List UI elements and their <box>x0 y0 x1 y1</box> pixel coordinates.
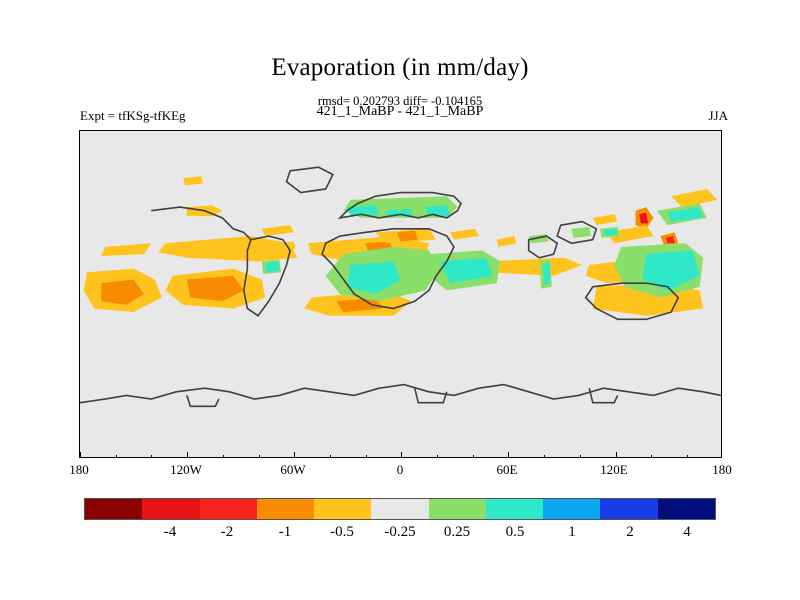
colorbar-band-9 <box>600 499 657 519</box>
season-label: JJA <box>708 108 728 124</box>
x-tick-80e <box>544 455 545 458</box>
colorbar-band-0 <box>85 499 142 519</box>
colorbar-band-10 <box>658 499 715 519</box>
x-axis-label-180w: 180 <box>69 462 89 478</box>
x-tick-60w <box>294 452 295 458</box>
y-tick-80s <box>79 441 80 442</box>
x-tick-60e <box>508 452 509 458</box>
x-tick-20w <box>366 455 367 458</box>
colorbar-band-1 <box>142 499 199 519</box>
map-data-layer <box>80 131 721 457</box>
x-tick-40w <box>330 455 331 458</box>
colorbar-label-9: 4 <box>683 524 691 541</box>
x-axis-label-120w: 120W <box>170 462 202 478</box>
map-plot-area <box>79 130 722 458</box>
colorbar-band-2 <box>200 499 257 519</box>
y-tick-80n <box>79 149 80 150</box>
x-tick-140e <box>651 455 652 458</box>
x-axis-label-180e: 180 <box>712 462 732 478</box>
x-tick-40e <box>473 455 474 458</box>
x-tick-20e <box>437 455 438 458</box>
y-tick-60s <box>79 404 80 405</box>
colorbar-band-4 <box>314 499 371 519</box>
chart-title: Evaporation (in mm/day) <box>0 54 800 82</box>
x-tick-80w <box>259 455 260 458</box>
colorbar-band-8 <box>543 499 600 519</box>
colorbar-band-7 <box>486 499 543 519</box>
colorbar-label-5: 0.25 <box>444 524 470 541</box>
experiment-label: Expt = tfKSg-tfKEg <box>80 108 186 124</box>
colorbar-label-4: -0.25 <box>384 524 415 541</box>
x-tick-140w <box>151 455 152 458</box>
colorbar-label-2: -1 <box>279 524 292 541</box>
colorbar-label-3: -0.5 <box>330 524 354 541</box>
x-tick-180w <box>80 452 81 458</box>
shaded-anomaly-fields <box>84 176 718 315</box>
y-tick-40s <box>79 368 80 369</box>
x-axis-label-0: 0 <box>397 462 404 478</box>
x-axis-label-120e: 120E <box>600 462 627 478</box>
y-tick-0 <box>79 295 80 296</box>
colorbar-band-3 <box>257 499 314 519</box>
figure-canvas: Evaporation (in mm/day) rmsd= 0.202793 d… <box>0 0 800 600</box>
colorbar-label-1: -2 <box>221 524 234 541</box>
x-tick-160e <box>687 455 688 458</box>
colorbar-label-6: 0.5 <box>506 524 525 541</box>
y-tick-20s <box>79 331 80 332</box>
colorbar-label-7: 1 <box>568 524 576 541</box>
y-tick-60n <box>79 186 80 187</box>
colorbar-label-8: 2 <box>626 524 634 541</box>
x-tick-100w <box>223 455 224 458</box>
x-axis-label-60w: 60W <box>280 462 305 478</box>
x-axis-label-60e: 60E <box>497 462 518 478</box>
x-tick-0 <box>401 452 402 458</box>
x-tick-160w <box>116 455 117 458</box>
x-tick-120e <box>616 452 617 458</box>
x-tick-120w <box>187 452 188 458</box>
x-tick-100e <box>580 455 581 458</box>
y-tick-20n <box>79 259 80 260</box>
y-tick-40n <box>79 222 80 223</box>
colorbar-label-0: -4 <box>164 524 177 541</box>
x-tick-180e <box>721 452 722 458</box>
colorbar-band-6 <box>429 499 486 519</box>
colorbar-band-5 <box>371 499 428 519</box>
colorbar <box>84 498 716 520</box>
